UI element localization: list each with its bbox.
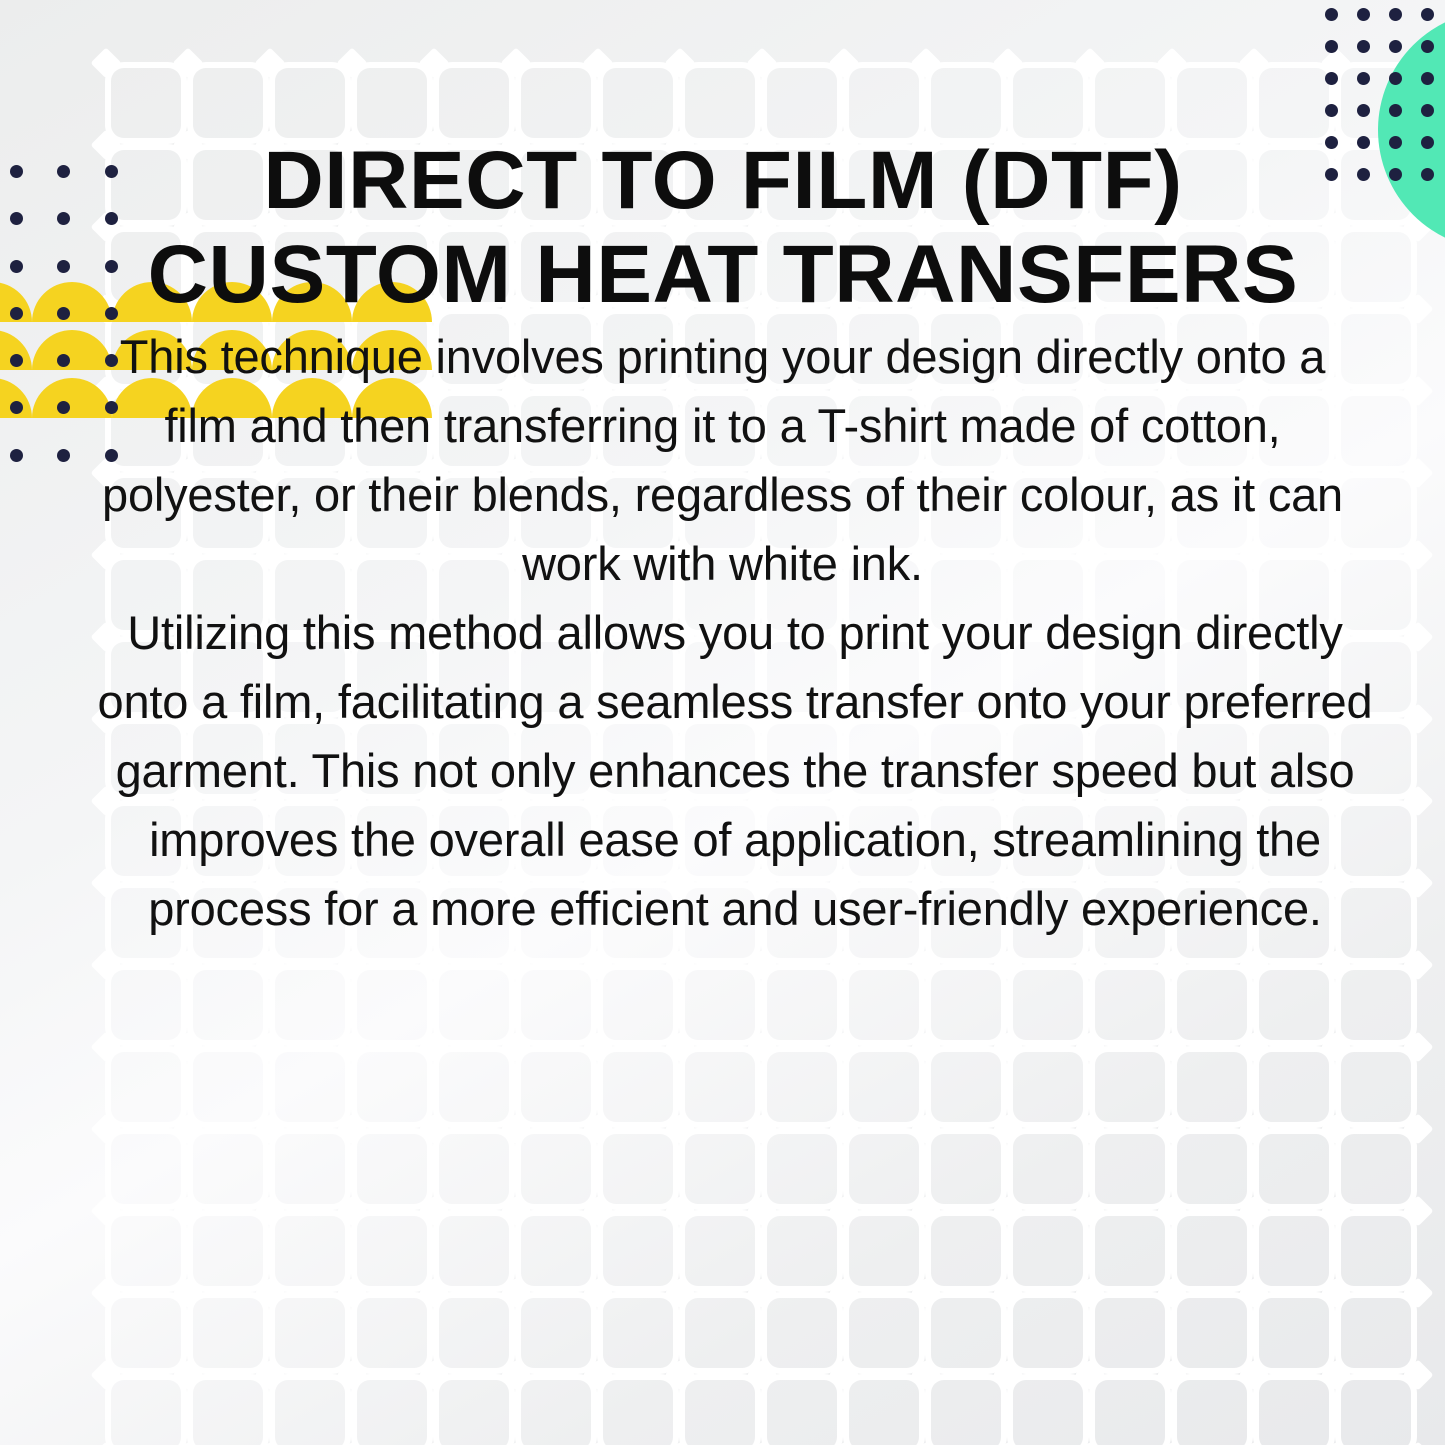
page-title: DIRECT TO FILM (DTF) CUSTOM HEAT TRANSFE…	[146, 0, 1299, 322]
page-title-line-2: CUSTOM HEAT TRANSFERS	[146, 228, 1299, 322]
body-copy: This technique involves printing your de…	[95, 322, 1350, 943]
poster-canvas: DIRECT TO FILM (DTF) CUSTOM HEAT TRANSFE…	[0, 0, 1445, 1445]
page-title-line-1: DIRECT TO FILM (DTF)	[146, 134, 1299, 228]
paragraph-1: This technique involves printing your de…	[95, 322, 1350, 598]
paragraph-2: Utilizing this method allows you to prin…	[95, 598, 1375, 943]
poster-content: DIRECT TO FILM (DTF) CUSTOM HEAT TRANSFE…	[0, 0, 1445, 1445]
